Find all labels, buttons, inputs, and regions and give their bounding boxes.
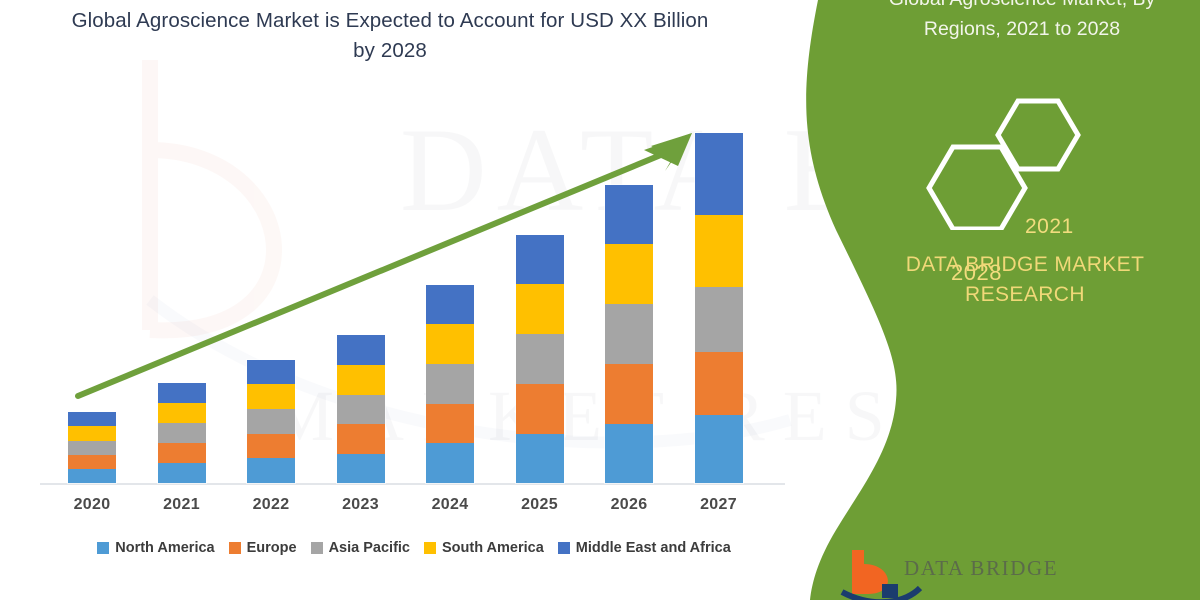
bar-segment (158, 443, 206, 463)
bar-segment (247, 384, 295, 409)
bar-segment (158, 403, 206, 423)
bar-2021[interactable] (158, 383, 206, 483)
bar-segment (68, 455, 116, 469)
x-label-2022: 2022 (231, 496, 311, 514)
chart-title: Global Agroscience Market is Expected to… (60, 6, 720, 66)
bar-segment (68, 469, 116, 483)
bar-segment (337, 335, 385, 365)
bar-segment (516, 434, 564, 483)
legend-label: Europe (247, 540, 297, 556)
legend-item[interactable]: Middle East and Africa (558, 540, 731, 556)
hex-label-2021: 2021 (1025, 215, 1074, 239)
legend-item[interactable]: Europe (229, 540, 297, 556)
bar-segment (158, 463, 206, 483)
bar-segment (337, 365, 385, 395)
bar-segment (516, 235, 564, 284)
x-label-2021: 2021 (142, 496, 222, 514)
bar-segment (247, 458, 295, 483)
bar-segment (516, 384, 564, 434)
bar-segment (158, 423, 206, 443)
infographic-canvas: DATA BRI MARKET RES Global Agroscience M… (0, 0, 1200, 600)
bar-segment (516, 284, 564, 334)
bar-segment (426, 443, 474, 483)
legend-item[interactable]: North America (97, 540, 214, 556)
legend-swatch (558, 542, 570, 554)
x-label-2025: 2025 (500, 496, 580, 514)
legend-label: South America (442, 540, 544, 556)
bar-segment (158, 383, 206, 403)
bar-2027[interactable] (695, 133, 743, 483)
bar-segment (695, 415, 743, 483)
x-label-2024: 2024 (410, 496, 490, 514)
legend-item[interactable]: Asia Pacific (311, 540, 410, 556)
legend-label: North America (115, 540, 214, 556)
legend-swatch (97, 542, 109, 554)
bar-segment (247, 434, 295, 458)
hexagon-badges: 2021 2028 (915, 95, 1125, 230)
chart-region: Global Agroscience Market is Expected to… (0, 0, 800, 600)
bar-segment (337, 424, 385, 454)
bar-2022[interactable] (247, 360, 295, 483)
bar-segment (337, 395, 385, 424)
bar-2023[interactable] (337, 335, 385, 483)
bar-segment (247, 409, 295, 434)
bar-segment (605, 424, 653, 483)
legend-label: Asia Pacific (329, 540, 410, 556)
bar-segment (337, 454, 385, 483)
bar-segment (695, 133, 743, 215)
legend-item[interactable]: South America (424, 540, 544, 556)
legend-swatch (229, 542, 241, 554)
bar-segment (426, 364, 474, 404)
legend-swatch (311, 542, 323, 554)
bar-segment (516, 334, 564, 384)
x-label-2027: 2027 (679, 496, 759, 514)
bar-segment (695, 287, 743, 352)
bar-segment (695, 215, 743, 287)
panel-title: Global Agroscience Market, By Regions, 2… (852, 0, 1192, 44)
bar-segment (605, 244, 653, 304)
bar-segment (605, 364, 653, 424)
bar-segment (426, 404, 474, 443)
legend-swatch (424, 542, 436, 554)
company-logo: DATA BRIDGE (838, 548, 1068, 600)
x-label-2020: 2020 (52, 496, 132, 514)
legend-label: Middle East and Africa (576, 540, 731, 556)
bar-segment (605, 304, 653, 364)
bar-2025[interactable] (516, 235, 564, 483)
bar-2024[interactable] (426, 285, 474, 483)
bar-segment (68, 426, 116, 441)
logo-text: DATA BRIDGE (904, 556, 1058, 581)
bar-segment (247, 360, 295, 384)
bar-segment (426, 285, 474, 324)
chart-legend: North AmericaEuropeAsia PacificSouth Ame… (44, 540, 784, 556)
bar-2020[interactable] (68, 412, 116, 483)
bar-segment (695, 352, 743, 415)
brand-name: DATA BRIDGE MARKET RESEARCH (880, 250, 1170, 310)
x-axis-line (40, 483, 785, 485)
x-label-2023: 2023 (321, 496, 401, 514)
bar-segment (68, 412, 116, 426)
bar-segment (68, 441, 116, 455)
bar-segment (605, 185, 653, 244)
bar-2026[interactable] (605, 185, 653, 483)
bar-segment (426, 324, 474, 364)
x-label-2026: 2026 (589, 496, 669, 514)
